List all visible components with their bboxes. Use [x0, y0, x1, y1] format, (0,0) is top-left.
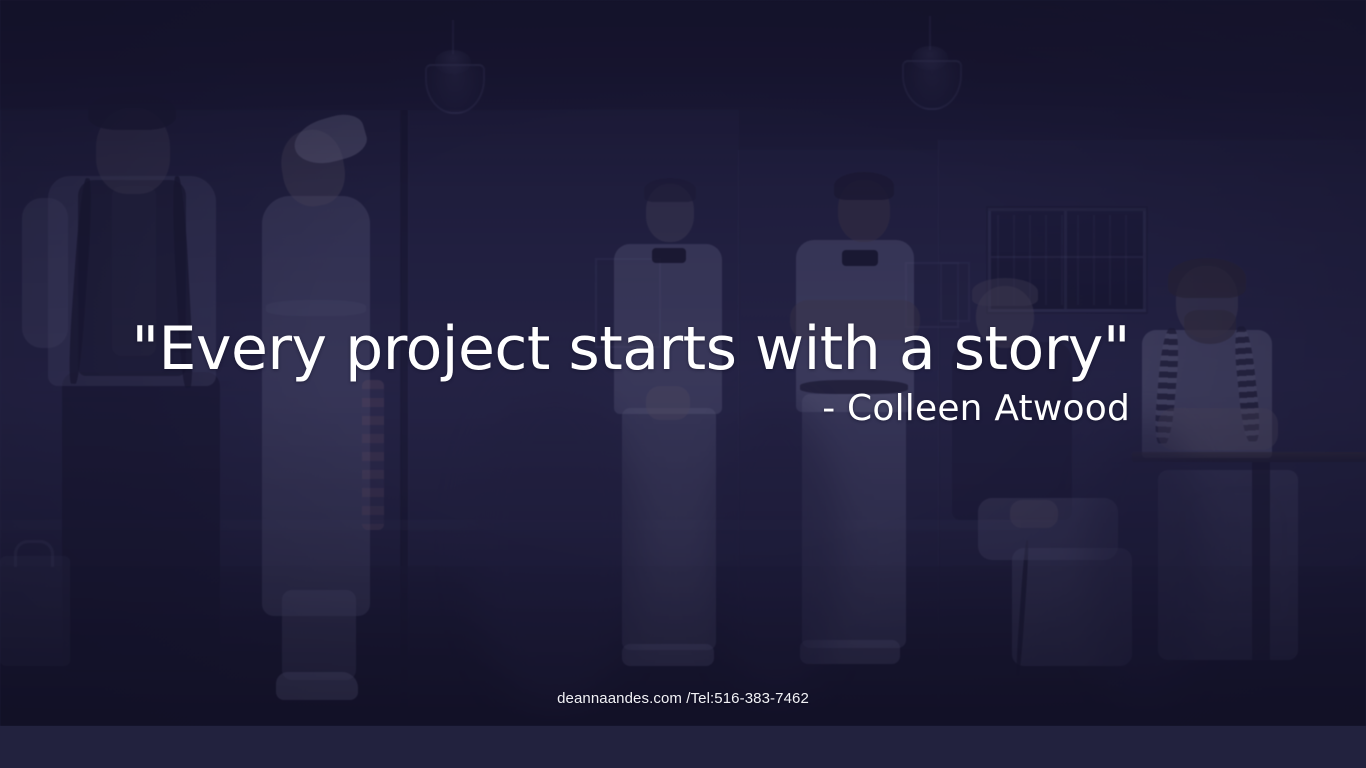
- quote-text: "Every project starts with a story": [0, 318, 1130, 382]
- quote-slide: "Every project starts with a story" - Co…: [0, 0, 1366, 768]
- footer-contact: deannaandes.com /Tel:516-383-7462: [0, 690, 1366, 707]
- text-layer: "Every project starts with a story" - Co…: [0, 0, 1366, 768]
- quote-attribution: - Colleen Atwood: [0, 388, 1130, 429]
